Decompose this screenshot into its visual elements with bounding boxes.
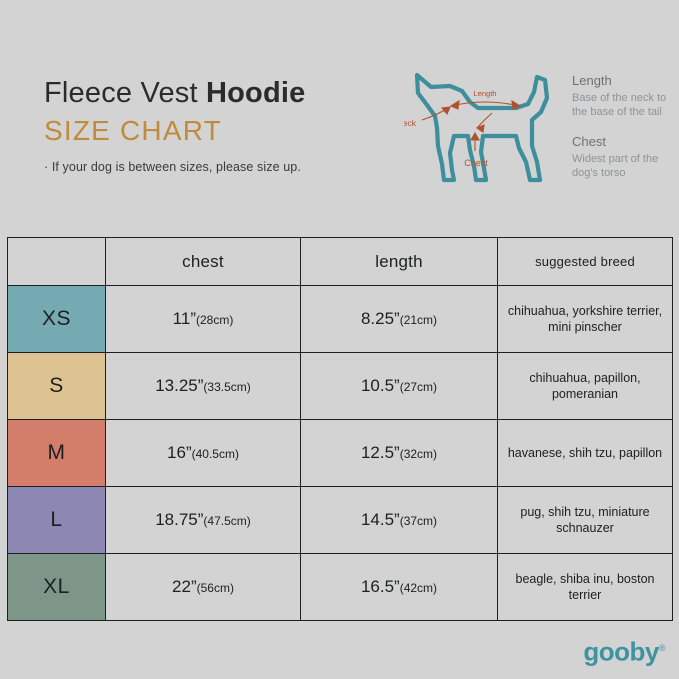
sizing-note: · If your dog is between sizes, please s… [44, 160, 404, 174]
table-row: M 16”(40.5cm) 12.5”(32cm) havanese, shih… [8, 420, 673, 487]
column-header-breed: suggested breed [498, 238, 673, 286]
legend-item-chest: Chest Widest part of the dog's torso [572, 133, 676, 180]
measurement-legend: Length Base of the neck to the base of t… [572, 72, 676, 194]
brand-logo-text: gooby [583, 637, 659, 667]
registered-trademark-icon: ® [659, 643, 665, 653]
legend-item-length: Length Base of the neck to the base of t… [572, 72, 676, 119]
breed-value-l: pug, shih tzu, miniature schnauzer [498, 487, 673, 554]
size-chart-subtitle: SIZE CHART [44, 114, 404, 148]
breed-value-m: havanese, shih tzu, papillon [498, 420, 673, 487]
length-value-s: 10.5”(27cm) [301, 353, 498, 420]
title-block: Fleece Vest Hoodie SIZE CHART · If your … [44, 76, 404, 174]
chest-value-s: 13.25”(33.5cm) [106, 353, 301, 420]
legend-desc-length: Base of the neck to the base of the tail [572, 91, 676, 119]
column-header-chest: chest [106, 238, 301, 286]
size-swatch-m: M [8, 420, 106, 487]
dog-measurement-diagram: Length Neck Chest [404, 58, 569, 188]
chest-value-m: 16”(40.5cm) [106, 420, 301, 487]
product-title-light: Fleece Vest [44, 77, 206, 109]
chest-arrow-label: Chest [464, 158, 488, 168]
column-header-size [8, 238, 106, 286]
length-value-xl: 16.5”(42cm) [301, 554, 498, 621]
brand-logo: gooby® [583, 635, 665, 665]
legend-desc-chest: Widest part of the dog's torso [572, 152, 676, 180]
table-row: XL 22”(56cm) 16.5”(42cm) beagle, shiba i… [8, 554, 673, 621]
size-swatch-l: L [8, 487, 106, 554]
length-arrow-label: Length [474, 89, 497, 98]
length-value-xs: 8.25”(21cm) [301, 286, 498, 353]
length-value-m: 12.5”(32cm) [301, 420, 498, 487]
product-title-bold: Hoodie [206, 77, 305, 109]
page-title: Fleece Vest Hoodie [44, 76, 404, 110]
size-chart-table: chest length suggested breed XS 11”(28cm… [7, 237, 673, 621]
chest-value-xs: 11”(28cm) [106, 286, 301, 353]
length-value-l: 14.5”(37cm) [301, 487, 498, 554]
column-header-length: length [301, 238, 498, 286]
header-section: Fleece Vest Hoodie SIZE CHART · If your … [0, 0, 679, 218]
size-swatch-s: S [8, 353, 106, 420]
size-swatch-xl: XL [8, 554, 106, 621]
table-row: S 13.25”(33.5cm) 10.5”(27cm) chihuahua, … [8, 353, 673, 420]
table-header-row: chest length suggested breed [8, 238, 673, 286]
neck-arrow-label: Neck [404, 118, 417, 128]
breed-value-s: chihuahua, papillon, pomeranian [498, 353, 673, 420]
legend-term-chest: Chest [572, 133, 676, 150]
breed-value-xs: chihuahua, yorkshire terrier, mini pinsc… [498, 286, 673, 353]
chest-value-xl: 22”(56cm) [106, 554, 301, 621]
size-swatch-xs: XS [8, 286, 106, 353]
table-row: XS 11”(28cm) 8.25”(21cm) chihuahua, york… [8, 286, 673, 353]
table-row: L 18.75”(47.5cm) 14.5”(37cm) pug, shih t… [8, 487, 673, 554]
chest-value-l: 18.75”(47.5cm) [106, 487, 301, 554]
breed-value-xl: beagle, shiba inu, boston terrier [498, 554, 673, 621]
legend-term-length: Length [572, 72, 676, 89]
